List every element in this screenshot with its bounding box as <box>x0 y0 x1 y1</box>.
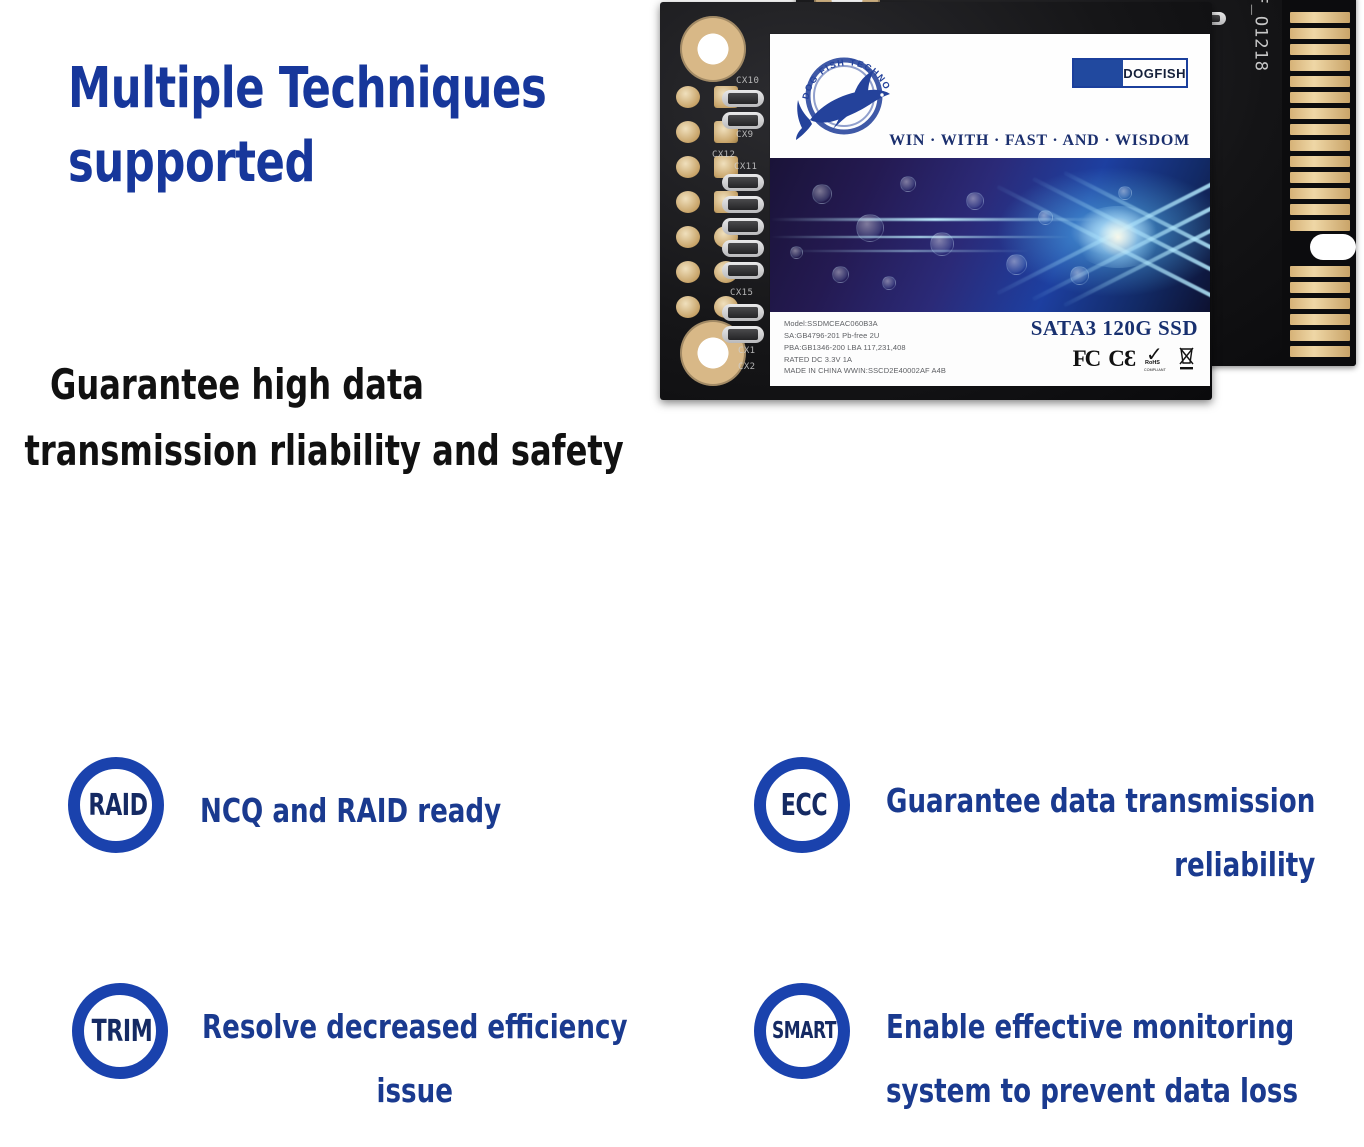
feature-grid: RAID NCQ and RAID ready ECC Guarantee da… <box>0 735 1364 1147</box>
smart-badge-icon: SMART <box>748 983 860 1087</box>
ssd-front-pcb: CX10 CX9 CX12 CX11 CX15 CX1 CX2 <box>660 2 1212 400</box>
trim-badge-label: TRIM <box>76 983 168 1079</box>
ecc-badge-label: ECC <box>758 757 850 853</box>
feature-line-1: NCQ and RAID ready <box>200 791 501 830</box>
feature-trim-text: Resolve decreased efficiency issue <box>202 995 628 1124</box>
ce-icon: CƐ <box>1108 346 1135 372</box>
feature-line-1: Resolve decreased efficiency <box>202 1007 628 1046</box>
spec-line: RATED DC 3.3V 1A <box>784 354 946 366</box>
sub-headline: Guarantee high data transmission rliabil… <box>50 352 645 485</box>
page-headline: Multiple Techniques supported <box>68 52 567 200</box>
weee-bin-icon <box>1177 346 1196 372</box>
dogfish-brand-mark: DOGFISH <box>1072 58 1188 88</box>
edge-connector-fingers <box>1282 0 1356 366</box>
certification-marks: FC CƐ ✓ RoHS COMPLIANT <box>1073 346 1196 372</box>
feature-line-2: reliability <box>886 833 1315 897</box>
spec-text-block: Model:SSDMCEAC060B3A SA:GB4796-201 Pb-fr… <box>784 318 946 377</box>
fcc-icon: FC <box>1073 346 1100 372</box>
feature-ecc-text: Guarantee data transmission reliability <box>886 769 1315 898</box>
dogfish-shark-logo-icon: DOG FISH TECHNOLOGY <box>792 46 900 148</box>
feature-line-1: Enable effective monitoring <box>886 1007 1294 1046</box>
subheadline-line-2: transmission rliability and safety <box>25 418 646 484</box>
raid-badge-label: RAID <box>72 757 164 853</box>
capacity-text: SATA3 120G SSD <box>1031 316 1198 341</box>
mounting-hole-top <box>680 16 746 82</box>
label-artwork <box>770 158 1210 312</box>
spec-line: Model:SSDMCEAC060B3A <box>784 318 946 330</box>
pcb-silkscreen-text: SM2246XT_Msata_BGA_4F_O1218 <box>1250 0 1270 72</box>
feature-smart: SMART Enable effective monitoring system… <box>748 983 1354 1124</box>
brand-tagline: WIN · WITH · FAST · AND · WISDOM <box>889 132 1190 150</box>
feature-line-2: system to prevent data loss <box>886 1059 1298 1123</box>
smart-badge-label: SMART <box>758 983 850 1079</box>
subheadline-line-1: Guarantee high data <box>50 360 424 409</box>
brand-name: DOGFISH <box>1123 60 1186 86</box>
feature-line-1: Guarantee data transmission <box>886 781 1315 820</box>
raid-badge-icon: RAID <box>62 757 174 861</box>
spec-line: SA:GB4796-201 Pb-free 2U <box>784 330 946 342</box>
feature-trim: TRIM Resolve decreased efficiency issue <box>66 983 686 1124</box>
rohs-icon: ✓ RoHS COMPLIANT <box>1144 346 1168 372</box>
ssd-product-photo: SM2246XT_Msata_BGA_4F_O1218 R10 <box>656 0 1360 410</box>
headline-line-1: Multiple Techniques <box>68 56 546 121</box>
product-label: DOG FISH TECHNOLOGY <box>770 34 1210 386</box>
label-header: DOG FISH TECHNOLOGY <box>770 34 1210 158</box>
feature-line-2: issue <box>202 1059 628 1123</box>
feature-raid: RAID NCQ and RAID ready <box>62 757 542 861</box>
product-feature-graphic: Multiple Techniques supported Guarantee … <box>0 0 1364 1147</box>
feature-smart-text: Enable effective monitoring system to pr… <box>886 995 1298 1124</box>
ecc-badge-icon: ECC <box>748 757 860 861</box>
brand-color-block <box>1074 60 1123 86</box>
feature-raid-text: NCQ and RAID ready <box>200 779 501 843</box>
label-footer: Model:SSDMCEAC060B3A SA:GB4796-201 Pb-fr… <box>770 312 1210 386</box>
headline-line-2: supported <box>68 126 567 200</box>
feature-ecc: ECC Guarantee data transmission reliabil… <box>748 757 1364 898</box>
trim-badge-icon: TRIM <box>66 983 178 1087</box>
spec-line: MADE IN CHINA WWIN:SSCD2E40002AF A4B <box>784 365 946 377</box>
spec-line: PBA:GB1346-200 LBA 117,231,408 <box>784 342 946 354</box>
